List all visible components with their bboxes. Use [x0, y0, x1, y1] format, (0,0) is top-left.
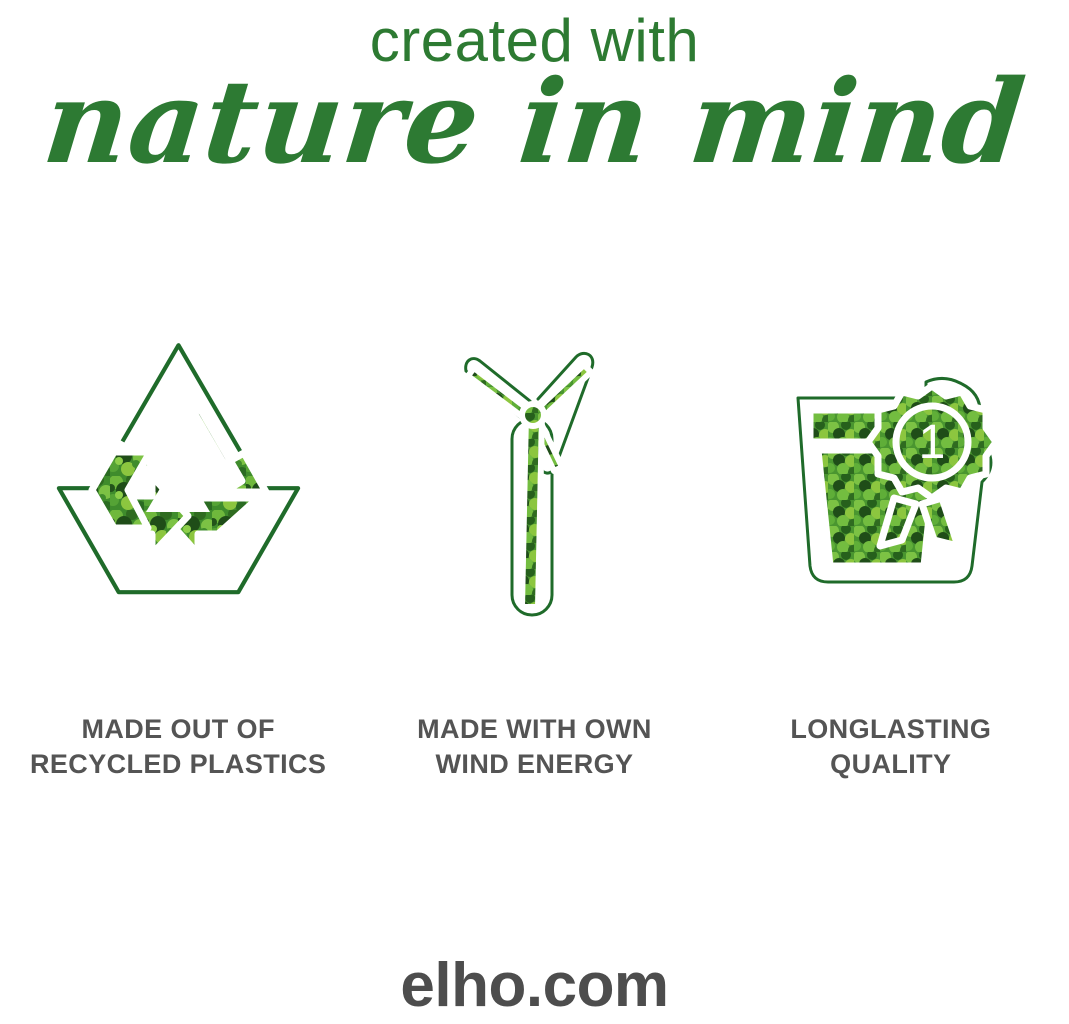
caption-cell-quality: LONGLASTING QUALITY: [713, 712, 1069, 782]
feature-icon-row: 1: [0, 330, 1069, 640]
caption-wind: MADE WITH OWN WIND ENERGY: [364, 712, 704, 782]
headline-line-2: nature in mind: [0, 64, 1069, 182]
recycle-arrow-left: [92, 452, 150, 528]
caption-quality: LONGLASTING QUALITY: [721, 712, 1061, 782]
wind-turbine-icon: [434, 335, 634, 635]
turbine-hub: [522, 404, 544, 426]
feature-item-quality: 1: [713, 330, 1069, 640]
award-pot-icon: 1: [776, 370, 1006, 600]
award-badge-number: 1: [918, 416, 945, 469]
recycle-icon: [42, 340, 314, 630]
caption-recycled: MADE OUT OF RECYCLED PLASTICS: [8, 712, 348, 782]
poster: created with nature in mind: [0, 0, 1069, 1024]
caption-cell-wind: MADE WITH OWN WIND ENERGY: [356, 712, 712, 782]
caption-cell-recycled: MADE OUT OF RECYCLED PLASTICS: [0, 712, 356, 782]
headline-block: created with nature in mind: [0, 0, 1069, 182]
website-url[interactable]: elho.com: [0, 954, 1069, 1018]
feature-item-recycled: [0, 330, 356, 640]
footer: elho.com: [0, 954, 1069, 1018]
turbine-tower: [522, 415, 542, 607]
feature-caption-row: MADE OUT OF RECYCLED PLASTICS MADE WITH …: [0, 712, 1069, 782]
feature-item-wind: [356, 330, 712, 640]
